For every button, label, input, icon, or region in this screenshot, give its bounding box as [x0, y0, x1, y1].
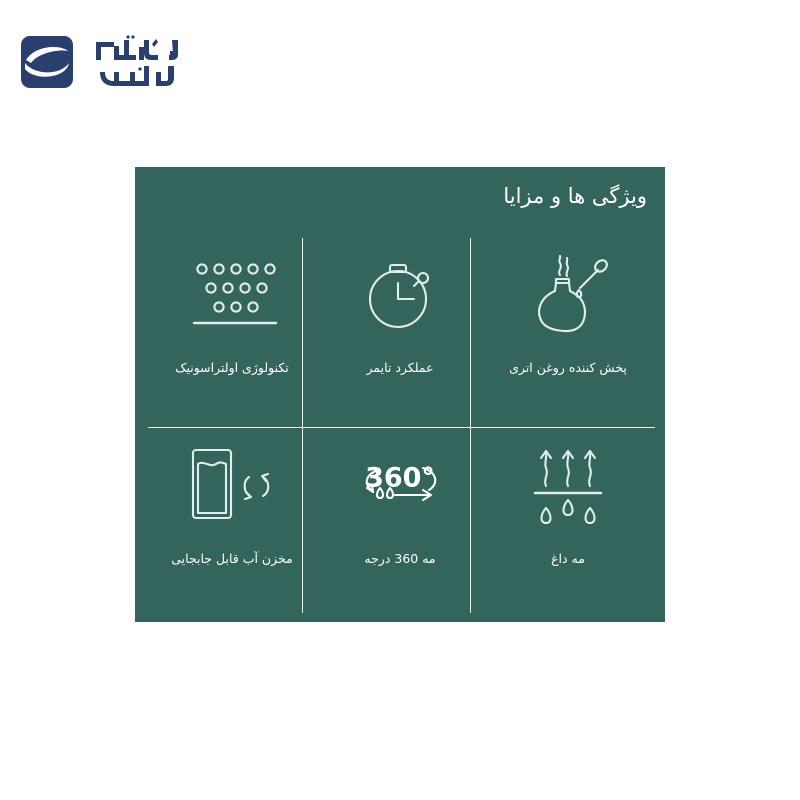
feature-label: تکنولوژی اولتراسونیک	[175, 359, 289, 377]
features-grid: پخش کننده روغن اتری	[148, 231, 652, 613]
360-degree-text: 360°	[365, 463, 435, 494]
360-degree-rotation-mist-icon: 360°	[353, 432, 447, 536]
hot-mist-arrows-droplets-icon	[530, 432, 606, 536]
ultrasonic-waves-dots-icon	[186, 241, 278, 345]
feature-item-timer: عملکرد تایمر	[316, 231, 484, 422]
feature-item-water-tank: مخزن آب قابل جابجایی	[148, 422, 316, 613]
oil-diffuser-bottle-dropper-icon	[522, 241, 614, 345]
feature-label: مخزن آب قابل جابجایی	[171, 550, 293, 568]
feature-item-ultrasonic: تکنولوژی اولتراسونیک	[148, 231, 316, 422]
feature-label: پخش کننده روغن اتری	[509, 359, 627, 377]
features-panel: ویژگی ها و مزایا	[135, 167, 665, 622]
feature-label: مه 360 درجه	[364, 550, 435, 568]
brand-logo	[20, 26, 220, 98]
removable-water-tank-icon	[185, 432, 279, 536]
feature-item-hot-mist: مه داغ	[484, 422, 652, 613]
panel-title: ویژگی ها و مزایا	[503, 181, 647, 211]
technolife-swoosh-logo-icon	[20, 35, 74, 89]
feature-item-oil-diffuser: پخش کننده روغن اتری	[484, 231, 652, 422]
feature-label: مه داغ	[551, 550, 585, 568]
feature-item-360-mist: 360° مه 360 درجه	[316, 422, 484, 613]
stopwatch-timer-icon	[361, 241, 439, 345]
page-root: ویژگی ها و مزایا	[0, 0, 800, 800]
feature-label: عملکرد تایمر	[366, 359, 433, 377]
brand-wordmark	[84, 34, 180, 90]
